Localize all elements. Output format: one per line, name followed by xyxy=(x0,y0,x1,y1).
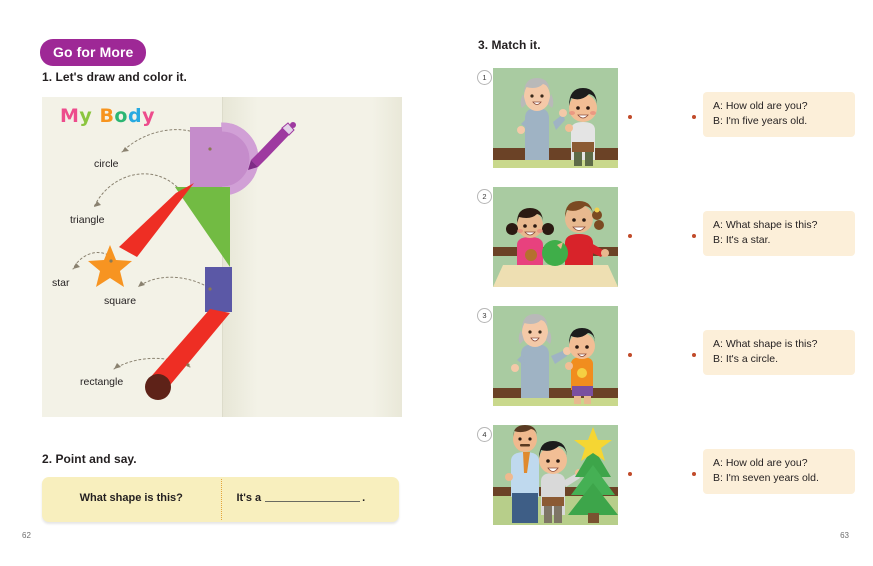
foot-circle xyxy=(145,374,171,400)
match-row: 1 xyxy=(477,68,857,168)
go-for-more-badge: Go for More xyxy=(40,39,146,66)
label-star: star xyxy=(52,277,70,289)
bubble-line-a: A: How old are you? xyxy=(713,456,845,471)
workbook-spread: Go for More 1. Let's draw and color it. … xyxy=(0,0,873,566)
bubble-line-b: B: It's a star. xyxy=(713,233,845,248)
bubble-line-b: B: I'm seven years old. xyxy=(713,471,845,486)
right-page: 3. Match it. 1 xyxy=(437,0,873,566)
task-3-heading: 3. Match it. xyxy=(478,38,541,52)
label-triangle: triangle xyxy=(70,214,104,226)
bubble-line-b: B: I'm five years old. xyxy=(713,114,845,129)
item-number: 2 xyxy=(477,189,492,204)
match-row: 2 xyxy=(477,187,857,287)
item-number: 3 xyxy=(477,308,492,323)
shapes-figure xyxy=(42,97,402,417)
item-number: 4 xyxy=(477,427,492,442)
answer-blank[interactable] xyxy=(265,501,360,502)
task-2-heading: 2. Point and say. xyxy=(42,452,137,466)
match-picture-4[interactable] xyxy=(493,425,618,525)
match-bubble-4: A: How old are you? B: I'm seven years o… xyxy=(703,449,855,494)
match-bubble-3: A: What shape is this? B: It's a circle. xyxy=(703,330,855,375)
arrow-triangle xyxy=(94,174,177,207)
bubble-line-b: B: It's a circle. xyxy=(713,352,845,367)
connector-dot-left[interactable] xyxy=(628,234,632,238)
match-bubble-2: A: What shape is this? B: It's a star. xyxy=(703,211,855,256)
label-square: square xyxy=(104,295,136,307)
match-bubble-1: A: How old are you? B: I'm five years ol… xyxy=(703,92,855,137)
match-picture-2[interactable] xyxy=(493,187,618,287)
page-number-right: 63 xyxy=(840,531,849,540)
match-row: 3 xyxy=(477,306,857,406)
item-number: 1 xyxy=(477,70,492,85)
rectangle-arm xyxy=(119,183,194,257)
page-number-left: 62 xyxy=(22,531,31,540)
bubble-line-a: A: How old are you? xyxy=(713,99,845,114)
connector-dot-right[interactable] xyxy=(692,353,696,357)
match-row: 4 xyxy=(477,425,857,525)
answer-prefix: It's a xyxy=(237,492,262,504)
connector-dot-left[interactable] xyxy=(628,353,632,357)
connector-dot-left[interactable] xyxy=(628,115,632,119)
match-picture-3[interactable] xyxy=(493,306,618,406)
star-shape xyxy=(88,245,132,287)
connector-dot-right[interactable] xyxy=(692,115,696,119)
left-page: Go for More 1. Let's draw and color it. … xyxy=(0,0,437,566)
triangle-shape xyxy=(175,187,230,267)
my-body-illustration: My Body xyxy=(42,97,402,417)
answer-suffix: . xyxy=(362,492,365,504)
connector-dot-left[interactable] xyxy=(628,472,632,476)
connector-dot-right[interactable] xyxy=(692,234,696,238)
bubble-line-a: A: What shape is this? xyxy=(713,218,845,233)
say-answer: It's a. xyxy=(221,492,400,504)
label-rectangle: rectangle xyxy=(80,376,123,388)
connector-dot-right[interactable] xyxy=(692,472,696,476)
match-picture-1[interactable] xyxy=(493,68,618,168)
label-circle: circle xyxy=(94,158,119,170)
point-and-say-box: What shape is this? It's a. xyxy=(42,477,399,522)
arrow-square xyxy=(138,277,208,287)
bubble-line-a: A: What shape is this? xyxy=(713,337,845,352)
say-prompt: What shape is this? xyxy=(42,492,221,504)
green-ball xyxy=(542,240,568,266)
task-1-heading: 1. Let's draw and color it. xyxy=(42,70,187,84)
